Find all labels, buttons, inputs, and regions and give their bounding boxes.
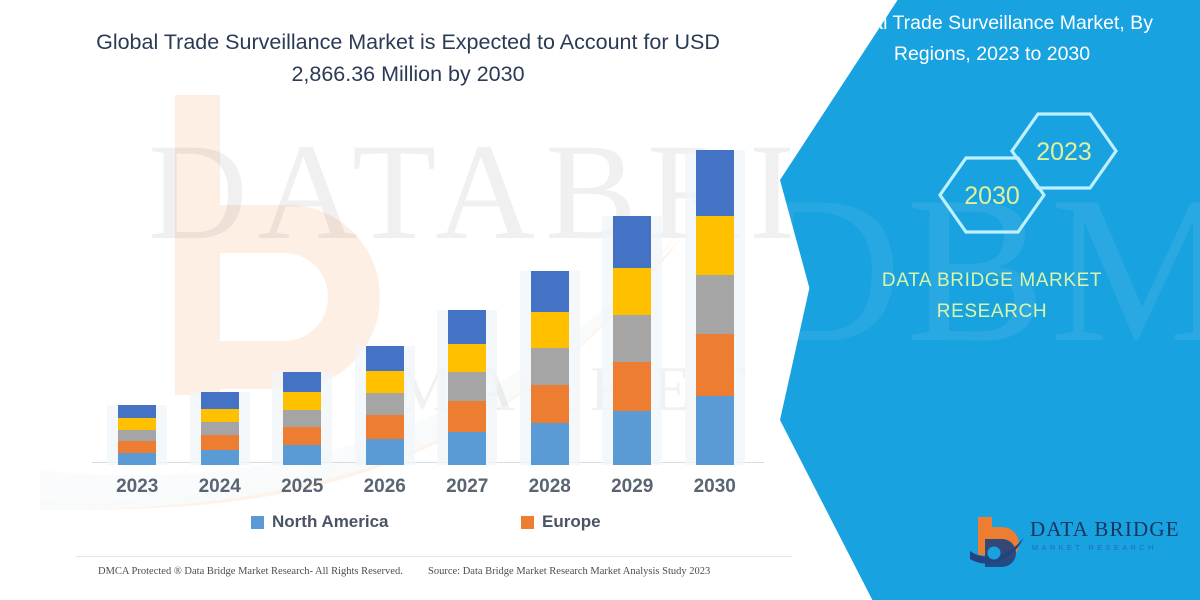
bar-segment-series-5: [613, 216, 651, 269]
bar-segment-series-5: [531, 271, 569, 312]
bar-2026[interactable]: [366, 346, 404, 465]
bar-2024[interactable]: [201, 392, 239, 465]
logo-mark-counter: [988, 547, 1001, 560]
legend-swatch: [251, 516, 264, 529]
bar-segment-north-america: [283, 445, 321, 465]
bar-segment-series-4: [366, 371, 404, 393]
bar-segment-europe: [283, 427, 321, 445]
footer-divider: [76, 556, 792, 557]
bar-segment-europe: [696, 334, 734, 396]
infographic-canvas: DATABRIDGE MARKET RESEARCH Global Trade …: [0, 0, 1200, 600]
bar-segment-north-america: [613, 411, 651, 465]
bar-2030[interactable]: [696, 150, 734, 465]
bar-segment-series-5: [366, 346, 404, 372]
x-label-2028: 2028: [517, 476, 583, 498]
bar-2023[interactable]: [118, 405, 156, 465]
bar-segment-series-3: [448, 372, 486, 401]
legend-label: North America: [272, 512, 389, 532]
stacked-bar-chart: [96, 140, 756, 465]
legend-swatch: [521, 516, 534, 529]
x-label-2027: 2027: [434, 476, 500, 498]
bar-segment-series-4: [531, 312, 569, 348]
bar-segment-europe: [531, 385, 569, 423]
bar-segment-north-america: [201, 450, 239, 465]
bar-segment-series-3: [366, 393, 404, 415]
data-bridge-logo: DATA BRIDGE MARKET RESEARCH: [968, 513, 1182, 571]
page-title: Global Trade Surveillance Market is Expe…: [72, 26, 744, 90]
hexagon-group: 2023 2030: [910, 108, 1150, 238]
bar-segment-series-3: [696, 275, 734, 334]
panel-title: Global Trade Surveillance Market, By Reg…: [816, 8, 1168, 70]
x-label-2029: 2029: [599, 476, 665, 498]
bar-segment-series-3: [283, 410, 321, 427]
bar-2028[interactable]: [531, 271, 569, 465]
bar-2025[interactable]: [283, 372, 321, 465]
bar-segment-north-america: [366, 439, 404, 465]
x-axis-labels: 20232024202520262027202820292030: [96, 476, 756, 502]
bar-segment-series-4: [448, 344, 486, 373]
panel-brand-line1: DATA BRIDGE MARKET: [882, 270, 1102, 291]
bar-segment-series-4: [613, 268, 651, 315]
bar-segment-series-5: [118, 405, 156, 418]
bar-segment-series-4: [696, 216, 734, 275]
bar-segment-series-3: [531, 348, 569, 384]
bar-segment-series-5: [448, 310, 486, 343]
bar-segment-series-5: [201, 392, 239, 408]
legend-label: Europe: [542, 512, 601, 532]
right-panel: DBMR Global Trade Surveillance Market, B…: [780, 0, 1200, 600]
bar-segment-north-america: [448, 432, 486, 465]
bar-segment-north-america: [531, 423, 569, 465]
footer-copyright: DMCA Protected ® Data Bridge Market Rese…: [98, 566, 403, 577]
bar-segment-europe: [613, 362, 651, 411]
panel-brand: DATA BRIDGE MARKET RESEARCH: [816, 265, 1168, 327]
bar-segment-series-5: [283, 372, 321, 392]
logo-title: DATA BRIDGE: [1030, 517, 1180, 542]
chart-legend: North AmericaEurope: [96, 512, 756, 538]
logo-subtitle: MARKET RESEARCH: [1032, 543, 1157, 552]
x-label-2026: 2026: [352, 476, 418, 498]
bar-segment-series-3: [118, 430, 156, 441]
bar-2029[interactable]: [613, 216, 651, 465]
x-label-2030: 2030: [682, 476, 748, 498]
bar-segment-series-4: [118, 418, 156, 429]
bar-segment-series-4: [201, 409, 239, 422]
bar-segment-series-5: [696, 150, 734, 216]
bar-segment-series-3: [201, 422, 239, 435]
panel-brand-line2: RESEARCH: [937, 301, 1047, 322]
bar-segment-europe: [448, 401, 486, 432]
hexagon-2030-label: 2030: [964, 182, 1020, 210]
legend-item-north-america[interactable]: North America: [251, 512, 389, 532]
bar-segment-series-4: [283, 392, 321, 409]
bar-segment-europe: [366, 415, 404, 439]
bar-segment-north-america: [118, 453, 156, 465]
hexagon-2023-label: 2023: [1036, 138, 1092, 166]
bar-segment-north-america: [696, 396, 734, 465]
x-label-2025: 2025: [269, 476, 335, 498]
x-label-2024: 2024: [187, 476, 253, 498]
bar-segment-series-3: [613, 315, 651, 362]
x-label-2023: 2023: [104, 476, 170, 498]
footer-source: Source: Data Bridge Market Research Mark…: [428, 566, 710, 577]
bar-2027[interactable]: [448, 310, 486, 465]
legend-item-europe[interactable]: Europe: [521, 512, 601, 532]
bar-segment-europe: [201, 435, 239, 449]
bar-segment-europe: [118, 441, 156, 452]
